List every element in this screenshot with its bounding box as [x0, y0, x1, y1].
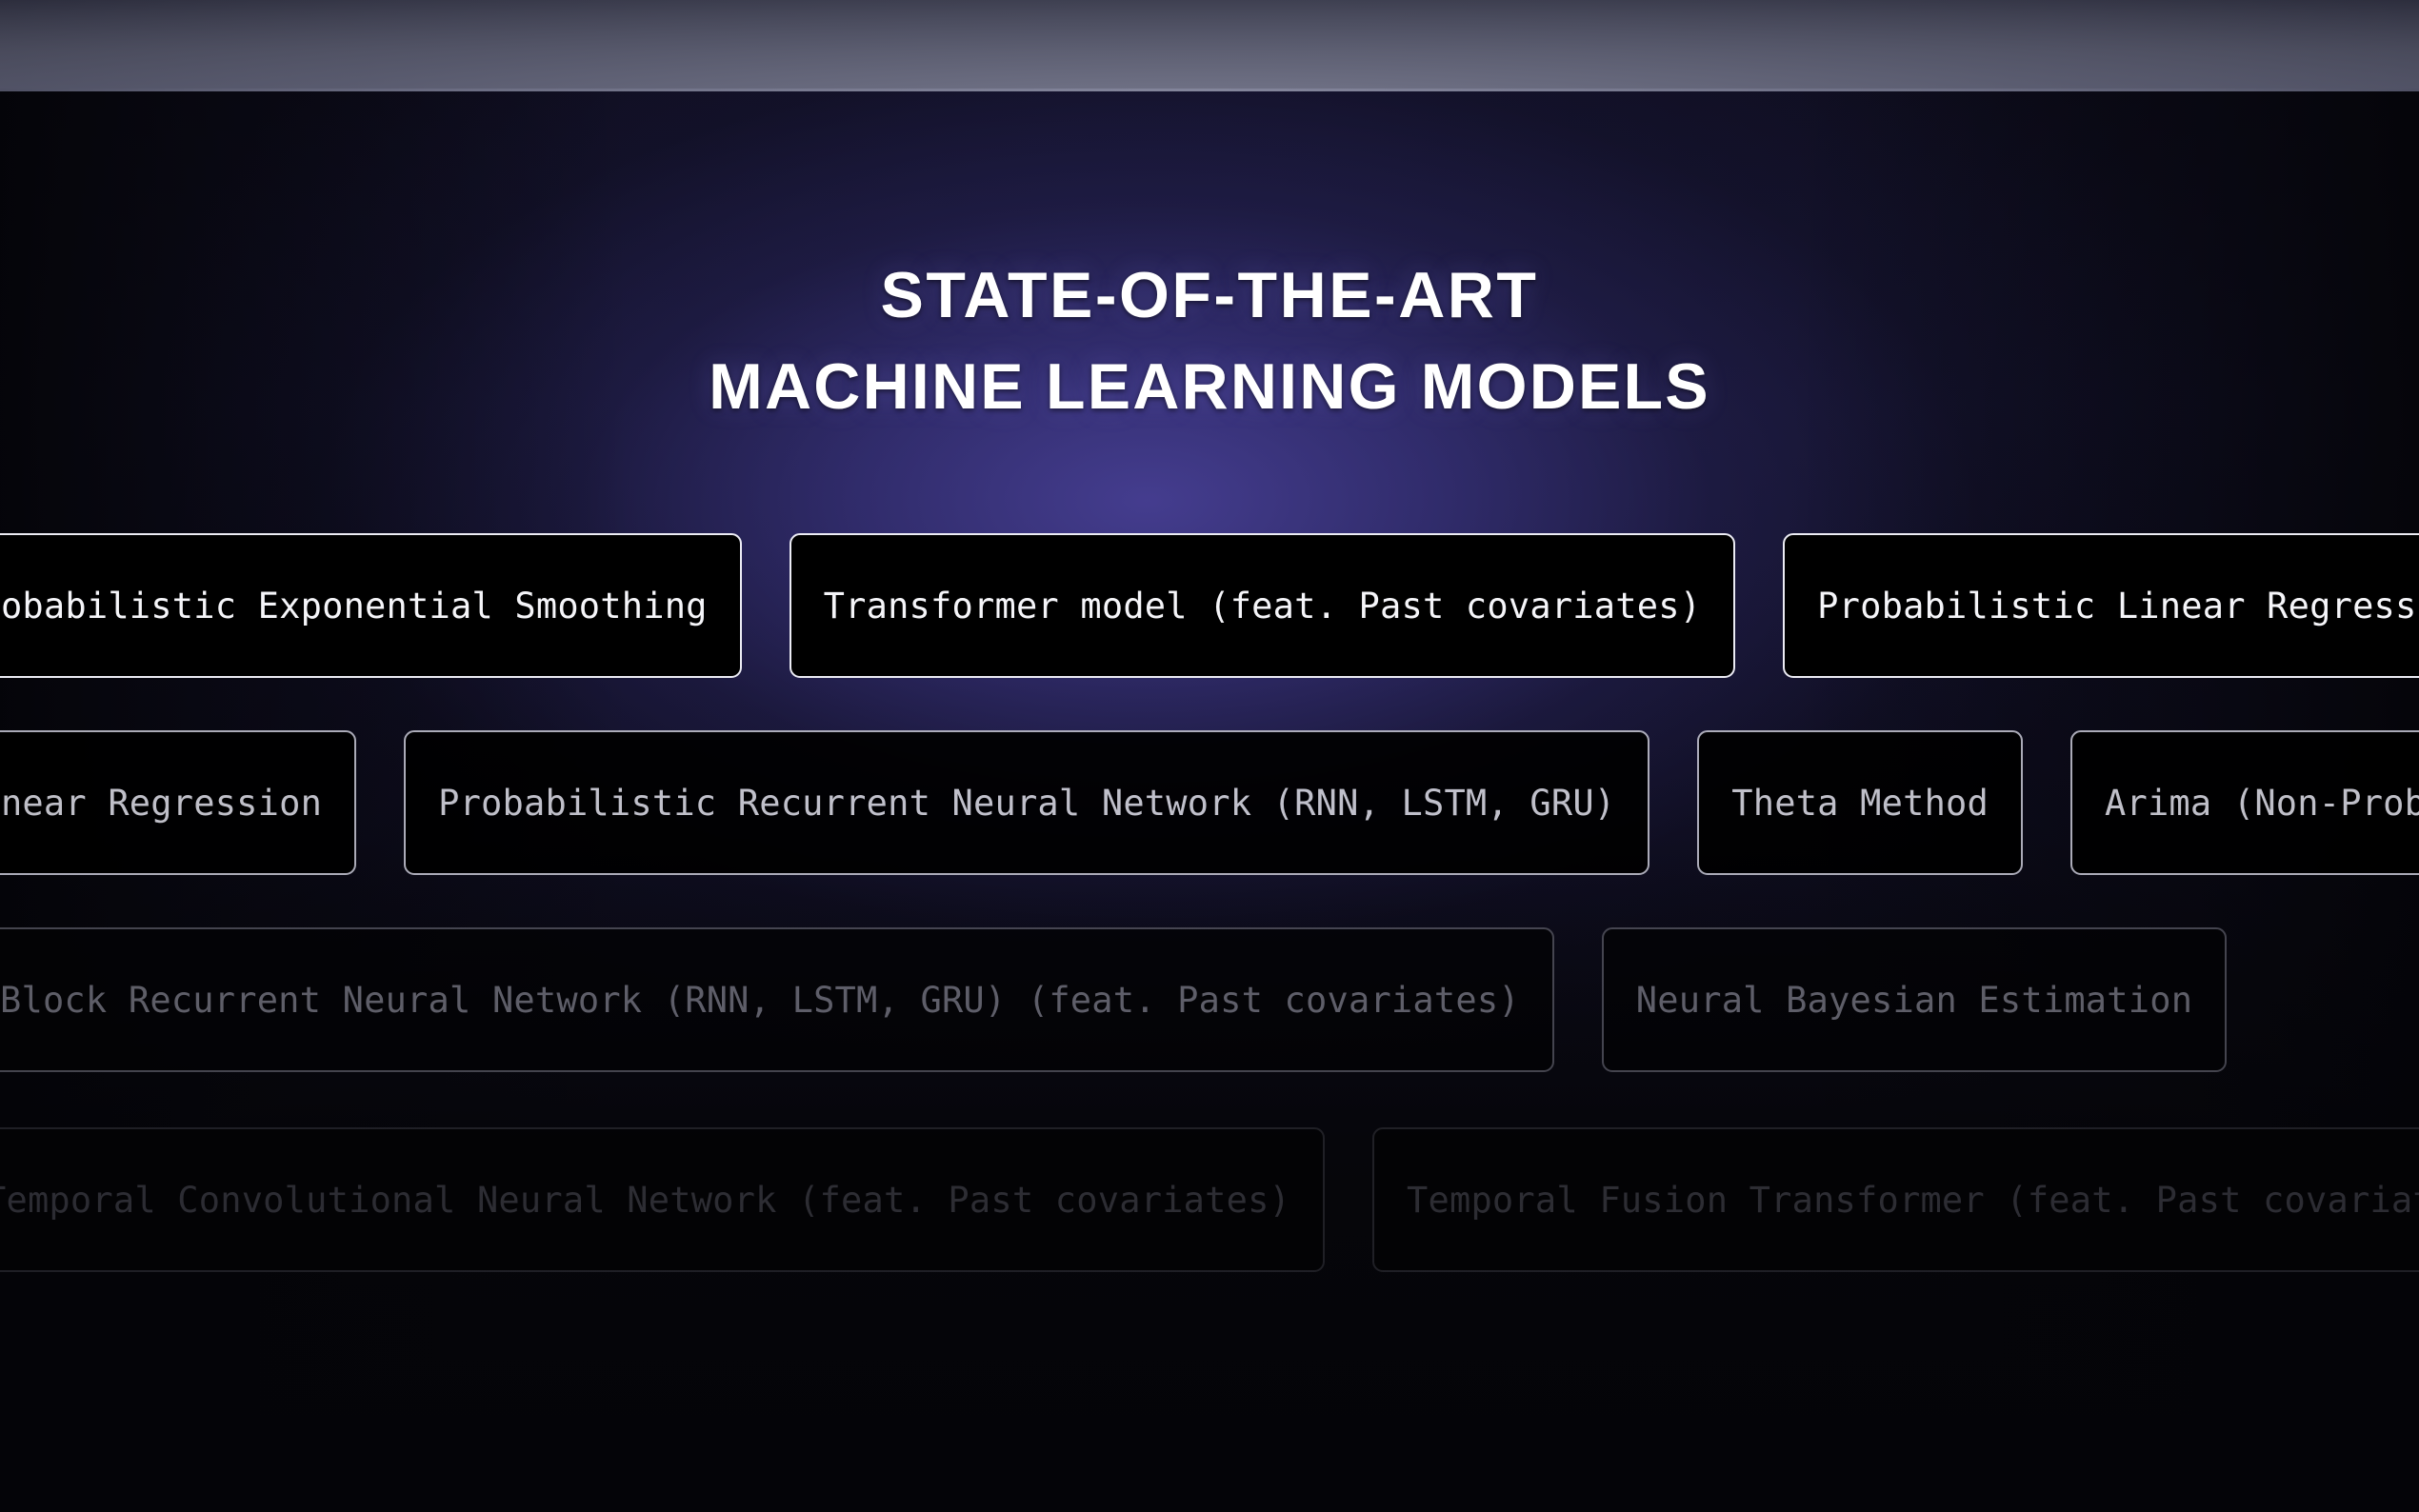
model-row-4: Temporal Convolutional Neural Network (f… [0, 1127, 2369, 1272]
model-chip[interactable]: Linear Regression [0, 730, 356, 875]
model-chip[interactable]: Temporal Fusion Transformer (feat. Past … [1372, 1127, 2419, 1272]
model-chip[interactable]: Arima (Non-Probabilistic) [2070, 730, 2419, 875]
top-light-band [0, 0, 2419, 91]
model-chip[interactable]: Transformer model (feat. Past covariates… [790, 533, 1736, 678]
model-chip[interactable]: Temporal Convolutional Neural Network (f… [0, 1127, 1325, 1272]
model-chip[interactable]: Theta Method [1697, 730, 2023, 875]
model-chip[interactable]: Neural Bayesian Estimation [1602, 927, 2227, 1072]
model-chip[interactable]: Probabilistic Exponential Smoothing [0, 533, 742, 678]
model-row-3: Block Recurrent Neural Network (RNN, LST… [0, 927, 2385, 1072]
page-title-line-1: STATE-OF-THE-ART [0, 249, 2419, 341]
page-title-line-2: MACHINE LEARNING MODELS [0, 341, 2419, 432]
model-chip[interactable]: Probabilistic Linear Regression [1783, 533, 2419, 678]
model-chip-rows: Probabilistic Exponential SmoothingTrans… [0, 533, 2419, 1272]
model-row-1: Probabilistic Exponential SmoothingTrans… [0, 533, 2343, 678]
model-row-2: Linear RegressionProbabilistic Recurrent… [0, 730, 2343, 875]
slide-stage: STATE-OF-THE-ART MACHINE LEARNING MODELS… [0, 0, 2419, 1512]
model-chip[interactable]: Block Recurrent Neural Network (RNN, LST… [0, 927, 1554, 1072]
page-title: STATE-OF-THE-ART MACHINE LEARNING MODELS [0, 249, 2419, 432]
model-chip[interactable]: Probabilistic Recurrent Neural Network (… [404, 730, 1649, 875]
